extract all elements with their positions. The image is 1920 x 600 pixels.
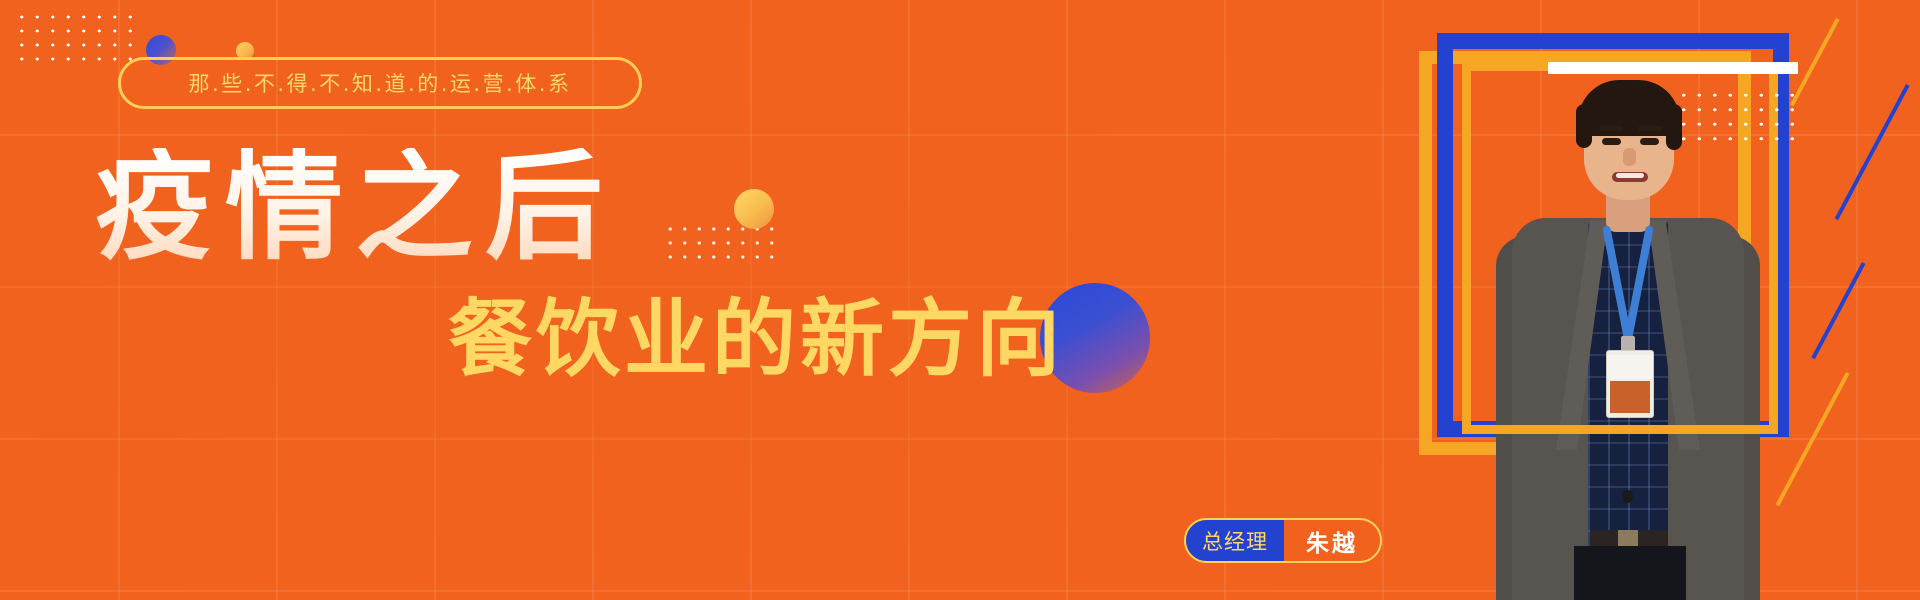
speaker-belt-buckle (1618, 530, 1638, 546)
photo-frame-white-bar (1548, 62, 1798, 74)
dot-grid-topleft-icon (14, 10, 140, 66)
speaker-trousers (1574, 546, 1686, 600)
diagonal-accent-blue-bottom (1811, 262, 1865, 359)
subtitle-pill: 那.些.不.得.不.知.道.的.运.营.体.系 (118, 57, 642, 109)
subtitle-pill-label: 那.些.不.得.不.知.道.的.运.营.体.系 (189, 68, 572, 98)
sphere-amber-medium-icon (734, 189, 774, 229)
page-title: 疫情之后 (95, 148, 615, 266)
speaker-role-label: 总经理 (1186, 520, 1284, 561)
diagonal-accent-blue-top (1835, 84, 1910, 220)
photo-frame-amber-inner (1462, 62, 1778, 434)
page-subtitle: 餐饮业的新方向 (448, 297, 1064, 381)
banner-root: 那.些.不.得.不.知.道.的.运.营.体.系 疫情之后 餐饮业的新方向 (0, 0, 1920, 600)
speaker-badge: 总经理 朱越 (1184, 518, 1382, 563)
speaker-name-label: 朱越 (1284, 520, 1380, 561)
speaker-blazer-button (1622, 490, 1633, 503)
